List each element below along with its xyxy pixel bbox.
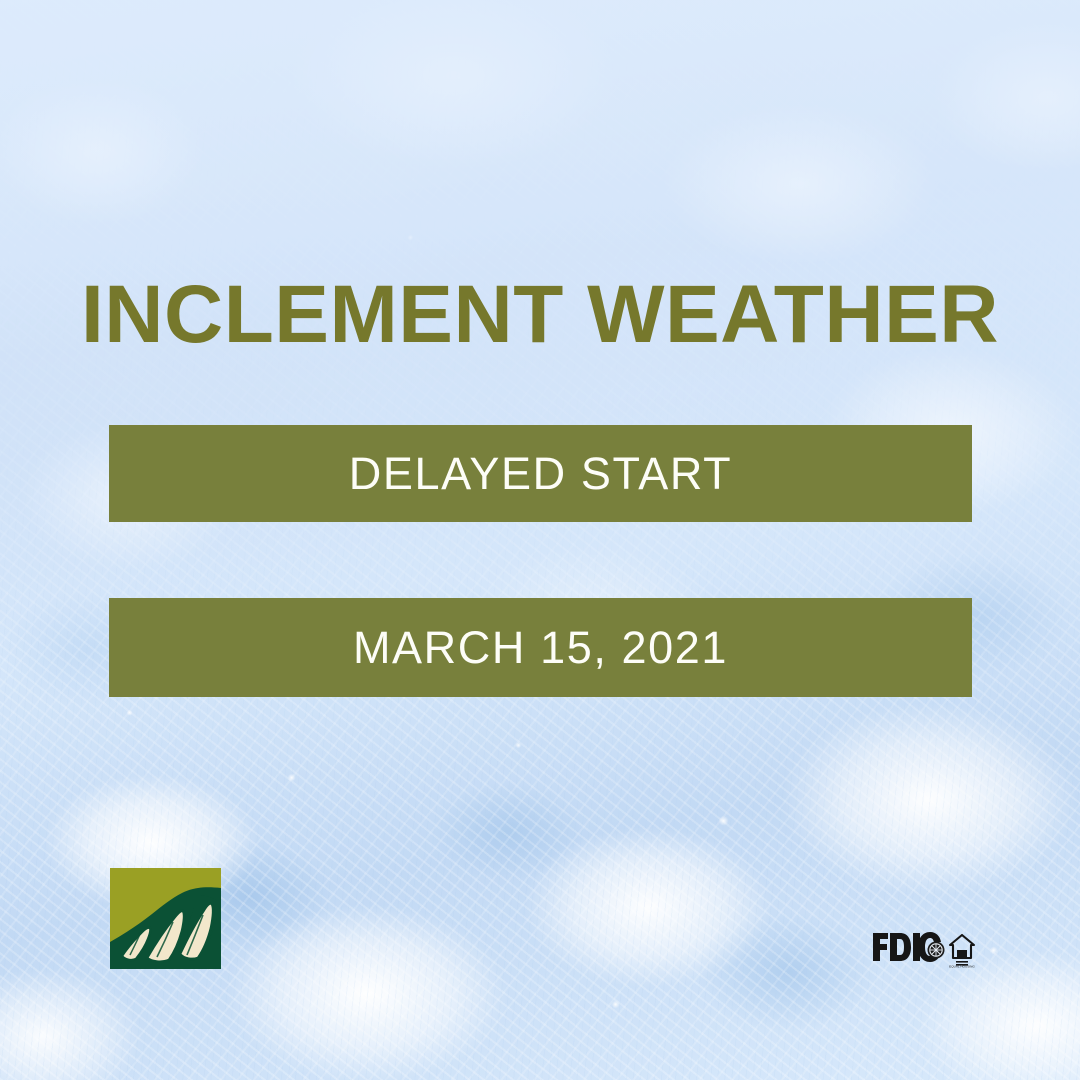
page-title: INCLEMENT WEATHER <box>0 274 1080 356</box>
inclement-weather-poster: INCLEMENT WEATHER DELAYED START MARCH 15… <box>0 0 1080 1080</box>
date-banner-label: MARCH 15, 2021 <box>353 625 728 670</box>
ehl-caption-line1: EQUAL HOUSING <box>949 965 975 969</box>
compliance-marks: EQUAL HOUSING <box>872 925 977 969</box>
date-banner: MARCH 15, 2021 <box>109 598 972 697</box>
equal-housing-lender-icon: EQUAL HOUSING <box>949 935 975 969</box>
flatirons-logo <box>110 868 221 969</box>
status-banner-label: DELAYED START <box>349 451 732 496</box>
status-banner-delayed-start: DELAYED START <box>109 425 972 522</box>
fdic-seal-icon <box>928 942 945 959</box>
